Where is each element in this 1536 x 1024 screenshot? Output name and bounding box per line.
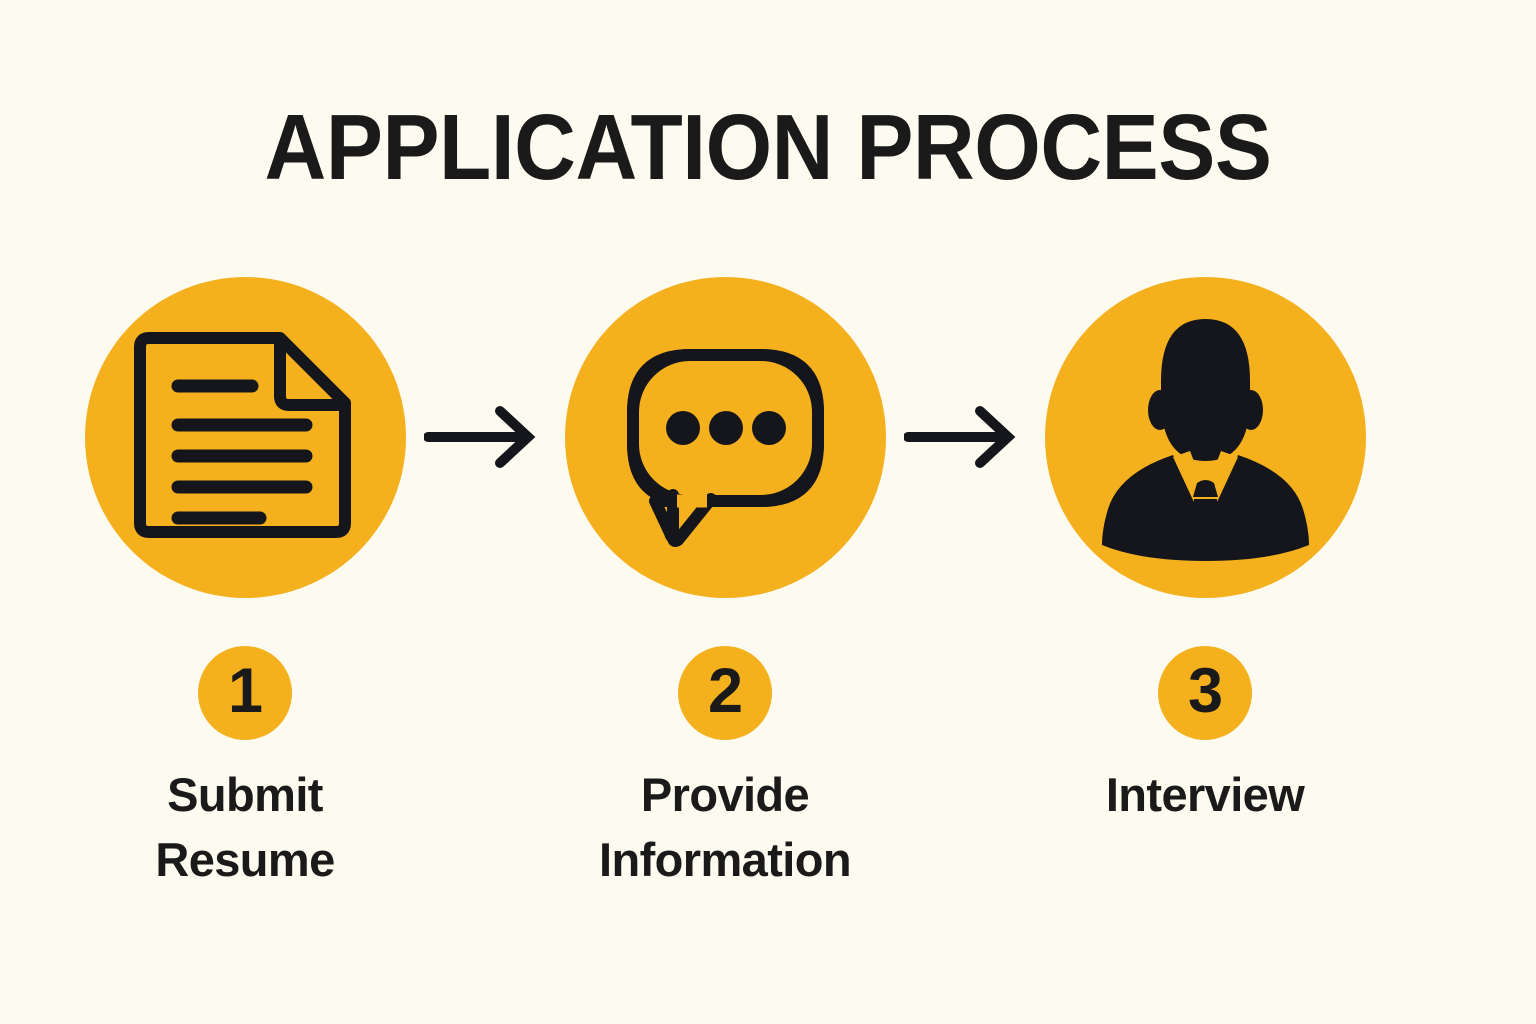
document-icon — [85, 277, 406, 598]
step-2-icon-circle — [565, 277, 886, 598]
arrow-right-icon — [424, 404, 546, 470]
step-3-icon-circle — [1045, 277, 1366, 598]
step-2-number: 2 — [708, 660, 742, 723]
person-in-suit-icon — [1045, 277, 1366, 598]
arrow-right-icon — [904, 404, 1026, 470]
step-2-label: Provide Information — [485, 762, 965, 892]
step-3-number: 3 — [1188, 660, 1222, 723]
application-process-infographic: APPLICATION PROCESS — [0, 0, 1536, 1024]
step-1-icon-circle — [85, 277, 406, 598]
step-1-number-badge: 1 — [198, 646, 292, 740]
step-1-number: 1 — [228, 660, 262, 723]
step-2-number-badge: 2 — [678, 646, 772, 740]
step-1-label: Submit Resume — [5, 762, 485, 892]
speech-bubble-icon — [565, 277, 886, 598]
step-2-provide-information: 2 Provide Information — [485, 277, 965, 892]
connector-1 — [424, 404, 546, 470]
connector-2 — [904, 404, 1026, 470]
step-3-interview: 3 Interview — [965, 277, 1445, 827]
process-steps: 1 Submit Resume — [0, 0, 1536, 1024]
step-3-label: Interview — [965, 762, 1445, 827]
step-3-number-badge: 3 — [1158, 646, 1252, 740]
step-1-submit-resume: 1 Submit Resume — [5, 277, 485, 892]
